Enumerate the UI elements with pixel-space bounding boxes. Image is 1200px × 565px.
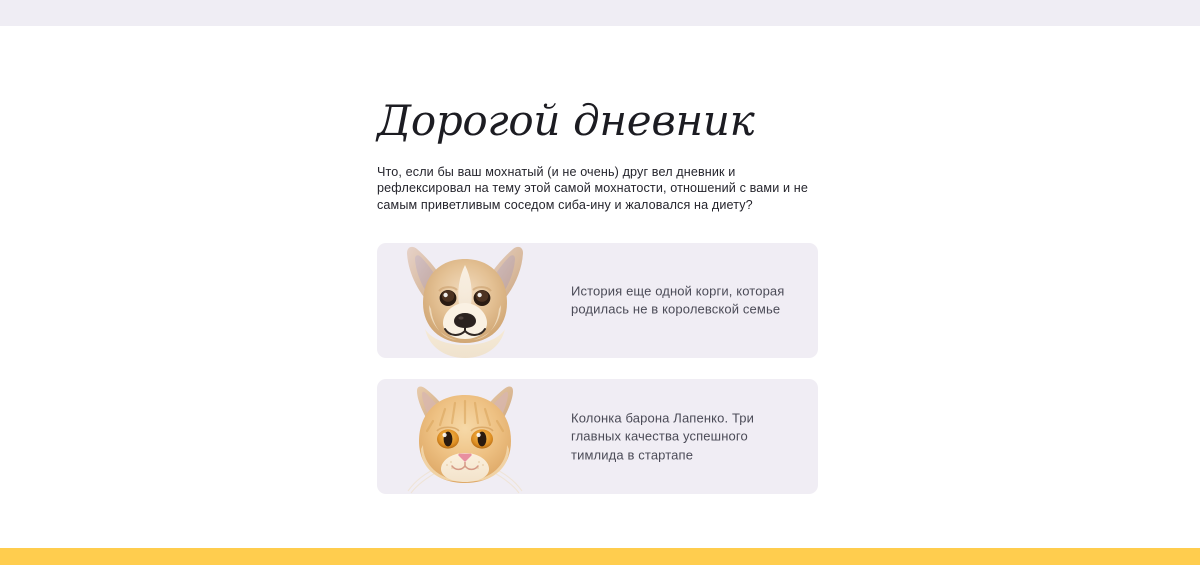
article-card-title: Колонка барона Лапенко. Три главных каче…: [571, 409, 786, 465]
bottom-accent-band: [0, 548, 1200, 565]
article-card[interactable]: Колонка барона Лапенко. Три главных каче…: [377, 379, 818, 494]
article-card-list: История еще одной корги, которая родилас…: [377, 213, 818, 494]
article-card-title: История еще одной корги, которая родилас…: [571, 282, 786, 319]
article-card[interactable]: История еще одной корги, которая родилас…: [377, 243, 818, 358]
page-title: Дорогой дневник: [377, 26, 818, 142]
orange-tabby-cat-face-illustration: [395, 379, 535, 494]
content-column: Дорогой дневник Что, если бы ваш мохнаты…: [377, 26, 818, 494]
page-intro-text: Что, если бы ваш мохнатый (и не очень) д…: [377, 142, 817, 213]
corgi-dog-face-illustration: [395, 243, 535, 358]
top-accent-band: [0, 0, 1200, 26]
